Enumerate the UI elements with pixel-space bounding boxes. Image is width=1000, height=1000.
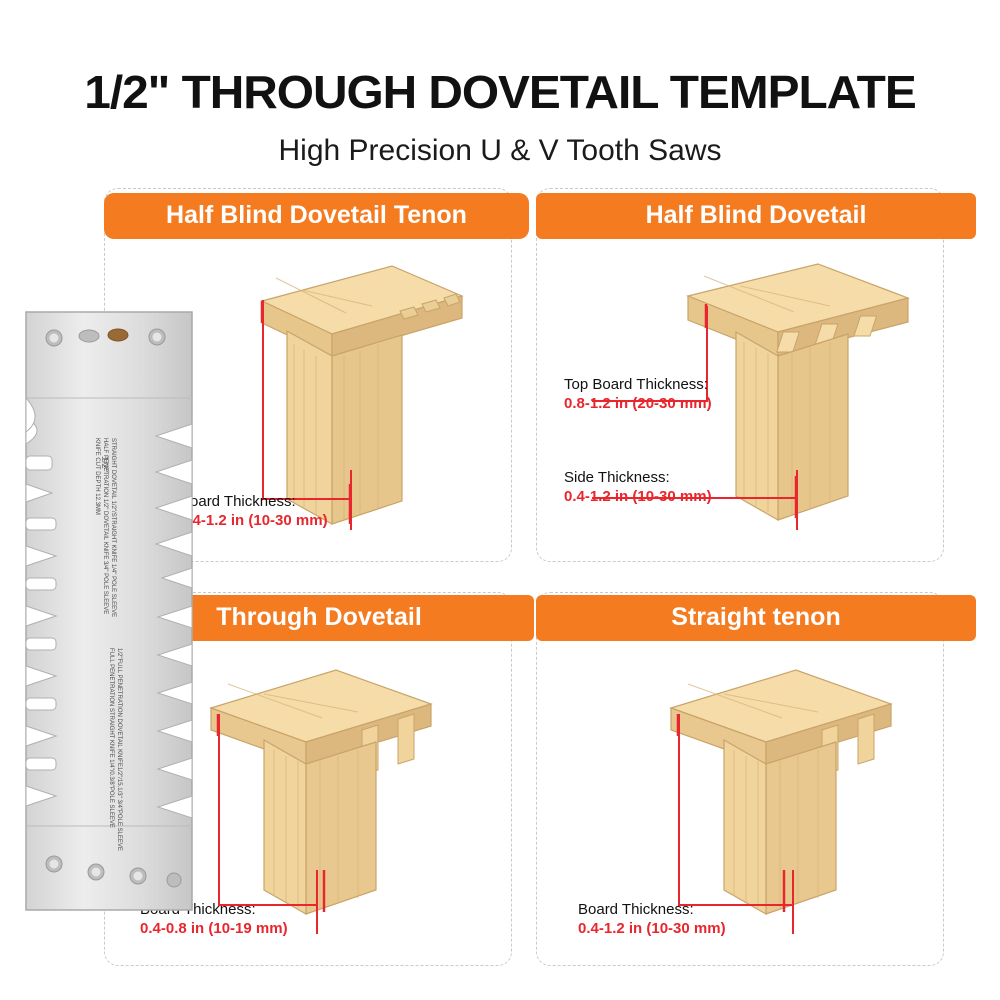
tool-engraving-line-4: 1/2"FULL PENETRATION DOVETAIL KNIFE1/2"/… (116, 648, 122, 851)
callout-board-thickness: Board Thickness: 0.4-1.2 in (10-30 mm) (180, 492, 400, 530)
measure-line-vertical (796, 470, 798, 530)
callout-label: Side Thickness: (564, 468, 794, 487)
callout-label: Board Thickness: (180, 492, 400, 511)
tool-engraving-line-2: HALF PENETRATION 1/2" DOVETAIL KNIFE 3/4… (102, 438, 108, 614)
callout-label: Top Board Thickness: (564, 375, 794, 394)
callout-value: 0.8-1.2 in (20-30 mm) (564, 394, 794, 413)
panel-title-straight-tenon: Straight tenon (536, 595, 976, 641)
ribbon-label: Half Blind Dovetail Tenon (166, 201, 467, 230)
tool-engraving-line-1: STRAIGHT DOVETAIL 1/2"/STRAIGHT KNIFE 1/… (110, 438, 116, 617)
ribbon-label: Straight tenon (671, 603, 840, 632)
panel-title-half-blind-dovetail: Half Blind Dovetail (536, 193, 976, 239)
callout-value: 0.4-1.2 in (10-30 mm) (564, 487, 794, 506)
ribbon-label: Through Dovetail (216, 603, 422, 632)
tool-engraving-line-5: FULL PENETRATION STRAIGHT KNIFE 1/4"/0.3… (108, 648, 114, 828)
callout-top-board-thickness: Top Board Thickness: 0.8-1.2 in (20-30 m… (564, 375, 794, 413)
callout-value: 0.4-1.2 in (10-30 mm) (180, 511, 400, 530)
callout-side-thickness: Side Thickness: 0.4-1.2 in (10-30 mm) (564, 468, 794, 506)
tool-engraving-line-3: KNIFE CUT DEPTH 12.3MM (94, 438, 100, 515)
illustration-straight-tenon (636, 658, 936, 938)
measure-line-vertical (678, 714, 680, 904)
dovetail-template-tool: 1/2" STRAIGHT DOVETAIL 1/2"/STRAIGHT KNI… (14, 306, 204, 916)
ribbon-label: Half Blind Dovetail (646, 201, 867, 230)
measure-line-vertical (262, 300, 264, 498)
panel-title-half-blind-dovetail-tenon: Half Blind Dovetail Tenon (104, 193, 529, 239)
measure-line-vertical (218, 714, 220, 904)
page-subtitle: High Precision U & V Tooth Saws (0, 132, 1000, 170)
callout-board-thickness: Board Thickness: 0.4-1.2 in (10-30 mm) (578, 900, 808, 938)
callout-value: 0.4-1.2 in (10-30 mm) (578, 919, 808, 938)
callout-label: Board Thickness: (578, 900, 808, 919)
callout-value: 0.4-0.8 in (10-19 mm) (140, 919, 370, 938)
page-title: 1/2" THROUGH DOVETAIL TEMPLATE (0, 66, 1000, 118)
diagram-page: 1/2" THROUGH DOVETAIL TEMPLATE High Prec… (0, 0, 1000, 1000)
illustration-through-dovetail (186, 658, 486, 938)
